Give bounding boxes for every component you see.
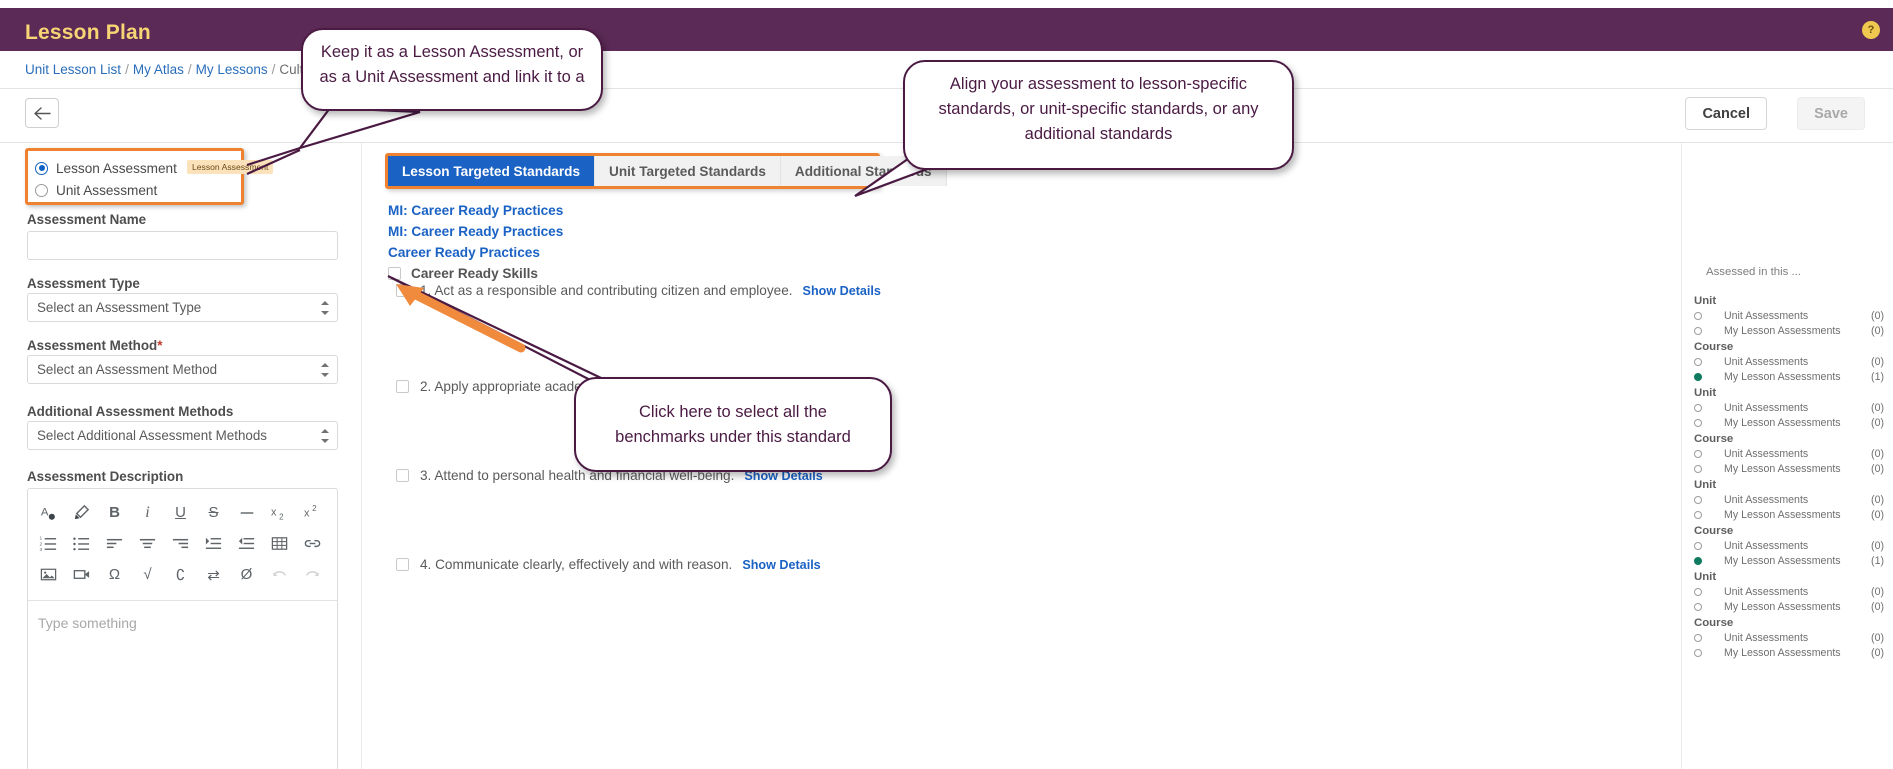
standards-list: MI: Career Ready Practices MI: Career Re… [388,201,1661,281]
breadcrumb-item-my-lessons[interactable]: My Lessons [196,62,268,77]
callout-keep-assessment: Keep it as a Lesson Assessment, or as a … [301,28,603,111]
chevron-updown-icon [320,363,329,377]
assessed-item[interactable]: My Lesson Assessments(1) [1682,554,1893,567]
assessed-item[interactable]: Unit Assessments(0) [1682,539,1893,552]
table-icon[interactable] [263,529,296,559]
editor-toolbar-row-1: A B i U S x2 x2 [32,497,333,528]
assessment-method-value: Select an Assessment Method [37,362,217,377]
assessed-group-title: Unit [1694,295,1893,307]
assessed-item-count: (0) [1871,448,1884,460]
svg-text:A: A [41,506,49,518]
assessed-item-radio[interactable] [1694,419,1702,427]
assessment-name-label: Assessment Name [27,212,146,227]
undo-icon[interactable] [263,560,296,590]
align-right-icon[interactable] [164,529,197,559]
empty-set-icon[interactable]: Ø [230,560,263,590]
chevron-updown-icon [320,429,329,443]
assessed-item-label: My Lesson Assessments [1724,509,1871,521]
breadcrumb-separator: / [184,62,196,77]
assessed-item-radio[interactable] [1694,542,1702,550]
assessed-item-count: (0) [1871,647,1884,659]
assessed-item-label: Unit Assessments [1724,494,1871,506]
assessed-item-count: (1) [1871,371,1884,383]
assessed-in-panel: Assessed in this ... UnitUnit Assessment… [1681,143,1893,769]
tab-unit-targeted-standards[interactable]: Unit Targeted Standards [595,156,781,186]
assessed-item[interactable]: My Lesson Assessments(1) [1682,370,1893,383]
assessed-item-radio[interactable] [1694,312,1702,320]
assessed-item-radio[interactable] [1694,557,1702,565]
show-details-link-1[interactable]: Show Details [803,284,881,298]
assessed-item-radio[interactable] [1694,649,1702,657]
svg-text:1: 1 [39,536,42,542]
required-marker: * [157,338,162,353]
callout-align-assessment: Align your assessment to lesson-specific… [903,60,1294,170]
svg-text:x: x [271,506,277,518]
assessed-item-count: (0) [1871,509,1884,521]
assessed-item-label: My Lesson Assessments [1724,371,1871,383]
highlight-icon[interactable] [65,498,98,528]
assessed-item-radio[interactable] [1694,327,1702,335]
radio-lesson-assessment-indicator [35,162,48,175]
chevron-updown-icon [320,301,329,315]
set-symbol-icon[interactable]: ∁ [164,560,197,590]
underline-icon[interactable]: U [164,498,197,528]
subscript-icon[interactable]: x2 [263,498,296,528]
square-root-icon[interactable]: √ [131,560,164,590]
redo-icon[interactable] [296,560,329,590]
assessed-item-label: My Lesson Assessments [1724,325,1871,337]
assessed-item[interactable]: My Lesson Assessments(0) [1682,646,1893,659]
outdent-icon[interactable] [230,529,263,559]
radio-unit-assessment-label: Unit Assessment [56,183,157,198]
standards-panel-inner: Lesson Targeted Standards Unit Targeted … [372,143,1681,769]
svg-text:x: x [304,507,310,519]
benchmark-checkbox-3[interactable] [396,469,409,482]
benchmark-label-4: 4. Communicate clearly, effectively and … [420,557,732,572]
assessed-item[interactable]: Unit Assessments(0) [1682,493,1893,506]
assessment-scope-group: Lesson Assessment Lesson Assessment Unit… [25,148,244,205]
assessed-item-label: My Lesson Assessments [1724,555,1871,567]
standards-tabs: Lesson Targeted Standards Unit Targeted … [388,156,947,186]
assessed-item-count: (0) [1871,417,1884,429]
assessed-group-title: Unit [1694,479,1893,491]
assessed-item-count: (0) [1871,310,1884,322]
standards-panel: Lesson Targeted Standards Unit Targeted … [362,143,1681,769]
assessment-type-value: Select an Assessment Type [37,300,201,315]
assessed-item[interactable]: Unit Assessments(0) [1682,585,1893,598]
svg-text:2: 2 [279,512,284,521]
assessed-item[interactable]: Unit Assessments(0) [1682,401,1893,414]
assessed-item-radio[interactable] [1694,373,1702,381]
assessed-group-title: Course [1694,341,1893,353]
assessed-item[interactable]: Unit Assessments(0) [1682,355,1893,368]
assessment-method-label: Assessment Method* [27,338,162,353]
radio-lesson-assessment[interactable]: Lesson Assessment [35,158,177,178]
assessed-item[interactable]: Unit Assessments(0) [1682,309,1893,322]
standard-group-label: Career Ready Skills [411,266,538,281]
align-center-icon[interactable] [131,529,164,559]
tab-lesson-targeted-standards[interactable]: Lesson Targeted Standards [388,156,595,186]
standard-link-1[interactable]: MI: Career Ready Practices [388,201,1661,222]
assessed-item-radio[interactable] [1694,496,1702,504]
assessed-item-radio[interactable] [1694,603,1702,611]
assessed-item-radio[interactable] [1694,588,1702,596]
assessed-item-radio[interactable] [1694,465,1702,473]
breadcrumb-item-unit-lesson-list[interactable]: Unit Lesson List [25,62,121,77]
assessment-method-select[interactable]: Select an Assessment Method [27,355,338,384]
link-icon[interactable] [296,529,329,559]
assessed-item-label: Unit Assessments [1724,632,1871,644]
assessed-in-groups: UnitUnit Assessments(0)My Lesson Assessm… [1682,291,1893,661]
assessed-item[interactable]: My Lesson Assessments(0) [1682,462,1893,475]
arrows-icon[interactable]: ⇄ [197,560,230,590]
bold-icon[interactable]: B [98,498,131,528]
assessed-group-title: Course [1694,433,1893,445]
breadcrumb-separator: / [268,62,280,77]
svg-text:2: 2 [312,504,317,513]
strikethrough-icon[interactable]: S [197,498,230,528]
assessed-item[interactable]: My Lesson Assessments(0) [1682,416,1893,429]
assessed-item-count: (0) [1871,601,1884,613]
assessed-item-label: My Lesson Assessments [1724,463,1871,475]
assessed-item-label: My Lesson Assessments [1724,601,1871,613]
assessed-in-title: Assessed in this ... [1706,266,1801,278]
standard-link-2[interactable]: MI: Career Ready Practices [388,222,1661,243]
align-left-icon[interactable] [98,529,131,559]
benchmark-checkbox-4[interactable] [396,558,409,571]
editor-toolbar: A B i U S x2 x2 [28,489,337,596]
benchmark-checkbox-1[interactable] [396,284,409,297]
additional-assessment-methods-value: Select Additional Assessment Methods [37,428,267,443]
assessed-item-count: (0) [1871,586,1884,598]
additional-assessment-methods-select[interactable]: Select Additional Assessment Methods [27,421,338,450]
italic-icon[interactable]: i [131,498,164,528]
assessed-item-radio[interactable] [1694,358,1702,366]
superscript-icon[interactable]: x2 [296,498,329,528]
image-icon[interactable] [32,560,65,590]
standard-group-checkbox[interactable] [388,267,401,280]
editor-toolbar-row-2: 123 [32,528,333,559]
arrow-left-icon [34,107,51,120]
assessed-item-label: Unit Assessments [1724,448,1871,460]
assessed-item-label: Unit Assessments [1724,356,1871,368]
assessed-item-count: (1) [1871,555,1884,567]
assessed-item-count: (0) [1871,463,1884,475]
assessment-type-select[interactable]: Select an Assessment Type [27,293,338,322]
assessed-item-label: Unit Assessments [1724,310,1871,322]
svg-text:3: 3 [39,547,42,553]
assessment-form-panel: Lesson Assessment Lesson Assessment Unit… [0,143,362,769]
assessed-item[interactable]: My Lesson Assessments(0) [1682,508,1893,521]
assessment-name-input[interactable] [27,231,338,260]
assessed-item-radio[interactable] [1694,404,1702,412]
ordered-list-icon[interactable]: 123 [32,529,65,559]
radio-unit-assessment[interactable]: Unit Assessment [35,180,157,200]
assessed-group-title: Unit [1694,571,1893,583]
save-button[interactable]: Save [1797,97,1865,130]
assessed-item-radio[interactable] [1694,450,1702,458]
assessed-item[interactable]: Unit Assessments(0) [1682,447,1893,460]
assessed-item-label: My Lesson Assessments [1724,417,1871,429]
assessment-description-textarea[interactable]: Type something [28,601,337,645]
assessed-item-count: (0) [1871,540,1884,552]
assessed-item-count: (0) [1871,325,1884,337]
additional-assessment-methods-label: Additional Assessment Methods [27,404,233,419]
horizontal-rule-icon[interactable] [230,498,263,528]
app-header: Lesson Plan ? [0,8,1893,51]
indent-icon[interactable] [197,529,230,559]
assessment-description-editor: A B i U S x2 x2 [27,488,338,769]
svg-text:2: 2 [39,541,42,547]
callout-select-benchmarks: Click here to select all the benchmarks … [574,377,892,472]
assessed-item-radio[interactable] [1694,634,1702,642]
radio-unit-assessment-indicator [35,184,48,197]
assessed-item[interactable]: Unit Assessments(0) [1682,631,1893,644]
benchmark-row-1[interactable]: 1. Act as a responsible and contributing… [388,283,881,298]
assessment-description-label: Assessment Description [27,469,183,484]
assessed-item-label: Unit Assessments [1724,540,1871,552]
benchmark-label-1: 1. Act as a responsible and contributing… [420,283,793,298]
benchmark-row-4[interactable]: 4. Communicate clearly, effectively and … [388,557,821,572]
assessed-item-count: (0) [1871,402,1884,414]
special-character-icon[interactable]: Ω [98,560,131,590]
assessed-item-label: Unit Assessments [1724,586,1871,598]
app-root: Lesson Plan ? Unit Lesson List/My Atlas/… [0,0,1893,769]
status-badge: Lesson Assessment [187,160,273,174]
assessed-item-count: (0) [1871,356,1884,368]
video-icon[interactable] [65,560,98,590]
assessed-item[interactable]: My Lesson Assessments(0) [1682,600,1893,613]
back-button[interactable] [25,98,59,128]
breadcrumb-item-my-atlas[interactable]: My Atlas [133,62,184,77]
assessed-item-count: (0) [1871,494,1884,506]
radio-lesson-assessment-label: Lesson Assessment [56,161,177,176]
cancel-button[interactable]: Cancel [1685,97,1767,130]
unordered-list-icon[interactable] [65,529,98,559]
assessed-item-radio[interactable] [1694,511,1702,519]
help-icon[interactable]: ? [1862,21,1880,39]
assessed-group-title: Unit [1694,387,1893,399]
benchmark-checkbox-2[interactable] [396,380,409,393]
page-title: Lesson Plan [25,21,151,45]
assessed-item-label: Unit Assessments [1724,402,1871,414]
assessed-group-title: Course [1694,525,1893,537]
standard-group-career-ready-skills[interactable]: Career Ready Skills [388,266,1661,281]
breadcrumb-separator: / [121,62,133,77]
standard-link-3[interactable]: Career Ready Practices [388,243,1661,264]
assessed-item[interactable]: My Lesson Assessments(0) [1682,324,1893,337]
editor-toolbar-row-3: Ω √ ∁ ⇄ Ø [32,559,333,590]
font-color-icon[interactable]: A [32,498,65,528]
assessed-item-label: My Lesson Assessments [1724,647,1871,659]
breadcrumb: Unit Lesson List/My Atlas/My Lessons/Cul… [25,62,323,77]
show-details-link-4[interactable]: Show Details [742,558,820,572]
assessed-group-title: Course [1694,617,1893,629]
assessment-type-label: Assessment Type [27,276,140,291]
assessed-item-count: (0) [1871,632,1884,644]
